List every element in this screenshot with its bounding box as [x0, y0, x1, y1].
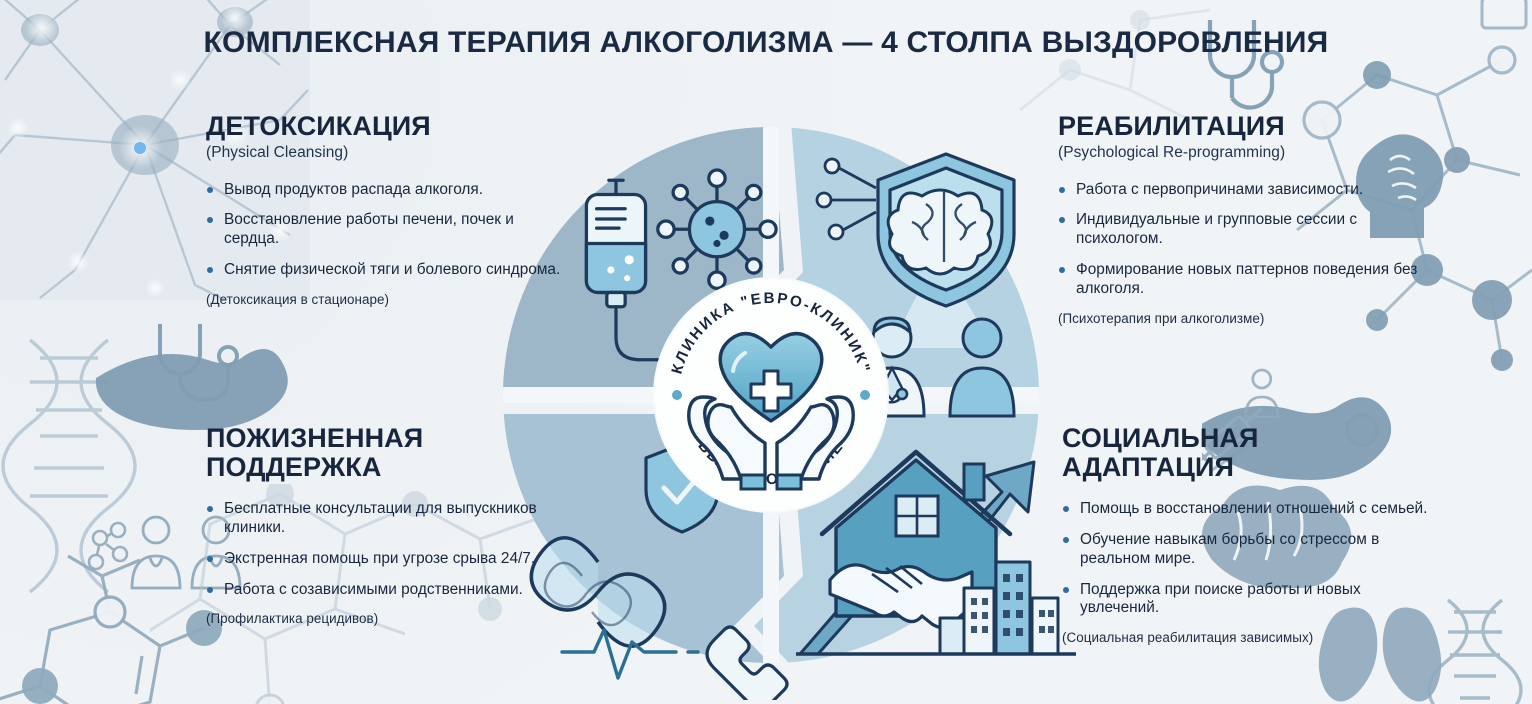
bullet-dot-icon: [207, 556, 213, 562]
bullet-text: Снятие физической тяги и болевого синдро…: [224, 261, 560, 278]
bullet-dot-icon: [207, 267, 213, 273]
support-title: ПОЖИЗНЕННАЯ ПОДДЕРЖКА: [206, 424, 566, 481]
bullet-text: Работа с первопричинами зависимости.: [1076, 181, 1363, 198]
clinic-emblem[interactable]: КЛИНИКА "ЕВРО-КЛИНИК" ВЫЗДОРОВЛЕНИЕ: [655, 279, 887, 511]
bullet-text: Поддержка при поиске работы и новых увле…: [1080, 581, 1361, 617]
detox-bullet-list: Вывод продуктов распада алкоголя. Восста…: [206, 181, 566, 280]
bullet-text: Работа с созависимыми родственниками.: [224, 581, 523, 598]
rehab-note: (Психотерапия при алкоголизме): [1058, 311, 1433, 326]
emblem-artwork: КЛИНИКА "ЕВРО-КЛИНИК" ВЫЗДОРОВЛЕНИЕ: [655, 279, 887, 511]
emblem-dot-right: [860, 390, 870, 400]
bullet-text: Вывод продуктов распада алкоголя.: [224, 181, 483, 198]
list-item: Работа с первопричинами зависимости.: [1058, 181, 1433, 200]
support-bullet-list: Бесплатные консультации для выпускников …: [206, 500, 566, 599]
list-item: Поддержка при поиске работы и новых увле…: [1062, 581, 1437, 619]
block-rehab: РЕАБИЛИТАЦИЯ (Psychological Re-programmi…: [1058, 112, 1433, 326]
bullet-dot-icon: [1059, 217, 1065, 223]
bullet-text: Восстановление работы печени, почек и се…: [224, 211, 514, 247]
bullet-dot-icon: [1063, 537, 1069, 543]
bullet-dot-icon: [1059, 267, 1065, 273]
page-title: КОМПЛЕКСНАЯ ТЕРАПИЯ АЛКОГОЛИЗМА — 4 СТОЛ…: [0, 26, 1532, 60]
detox-subtitle: (Physical Cleansing): [206, 144, 566, 162]
detox-note: (Детоксикация в стационаре): [206, 292, 566, 307]
bullet-dot-icon: [207, 187, 213, 193]
social-note: (Социальная реабилитация зависимых): [1062, 630, 1437, 645]
rehab-subtitle: (Psychological Re-programming): [1058, 144, 1433, 162]
bullet-text: Помощь в восстановлении отношений с семь…: [1080, 500, 1427, 517]
list-item: Вывод продуктов распада алкоголя.: [206, 181, 566, 200]
block-detox: ДЕТОКСИКАЦИЯ (Physical Cleansing) Вывод …: [206, 112, 566, 307]
bullet-text: Бесплатные консультации для выпускников …: [224, 500, 537, 536]
block-social: СОЦИАЛЬНАЯ АДАПТАЦИЯ Помощь в восстановл…: [1062, 424, 1437, 645]
bullet-text: Экстренная помощь при угрозе срыва 24/7.: [224, 550, 535, 567]
social-title: СОЦИАЛЬНАЯ АДАПТАЦИЯ: [1062, 424, 1437, 481]
list-item: Обучение навыкам борьбы со стрессом в ре…: [1062, 531, 1437, 569]
detox-title: ДЕТОКСИКАЦИЯ: [206, 112, 566, 141]
bullet-dot-icon: [1059, 187, 1065, 193]
bullet-dot-icon: [1063, 506, 1069, 512]
bullet-text: Формирование новых паттернов поведения б…: [1076, 261, 1417, 297]
list-item: Индивидуальные и групповые сессии с псих…: [1058, 211, 1433, 249]
bullet-dot-icon: [207, 506, 213, 512]
rehab-title: РЕАБИЛИТАЦИЯ: [1058, 112, 1433, 141]
list-item: Снятие физической тяги и болевого синдро…: [206, 261, 566, 280]
list-item: Экстренная помощь при угрозе срыва 24/7.: [206, 550, 566, 569]
emblem-dot-left: [672, 390, 682, 400]
block-support: ПОЖИЗНЕННАЯ ПОДДЕРЖКА Бесплатные консуль…: [206, 424, 566, 626]
list-item: Формирование новых паттернов поведения б…: [1058, 261, 1433, 299]
rehab-bullet-list: Работа с первопричинами зависимости. Инд…: [1058, 181, 1433, 299]
infographic-canvas: КОМПЛЕКСНАЯ ТЕРАПИЯ АЛКОГОЛИЗМА — 4 СТОЛ…: [0, 0, 1532, 704]
bullet-text: Обучение навыкам борьбы со стрессом в ре…: [1080, 531, 1379, 567]
list-item: Бесплатные консультации для выпускников …: [206, 500, 566, 538]
bullet-dot-icon: [207, 217, 213, 223]
bullet-dot-icon: [1063, 587, 1069, 593]
social-bullet-list: Помощь в восстановлении отношений с семь…: [1062, 500, 1437, 618]
bullet-dot-icon: [207, 587, 213, 593]
support-note: (Профилактика рецидивов): [206, 611, 566, 626]
list-item: Работа с созависимыми родственниками.: [206, 581, 566, 600]
list-item: Восстановление работы печени, почек и се…: [206, 211, 566, 249]
list-item: Помощь в восстановлении отношений с семь…: [1062, 500, 1437, 519]
bullet-text: Индивидуальные и групповые сессии с псих…: [1076, 211, 1357, 247]
